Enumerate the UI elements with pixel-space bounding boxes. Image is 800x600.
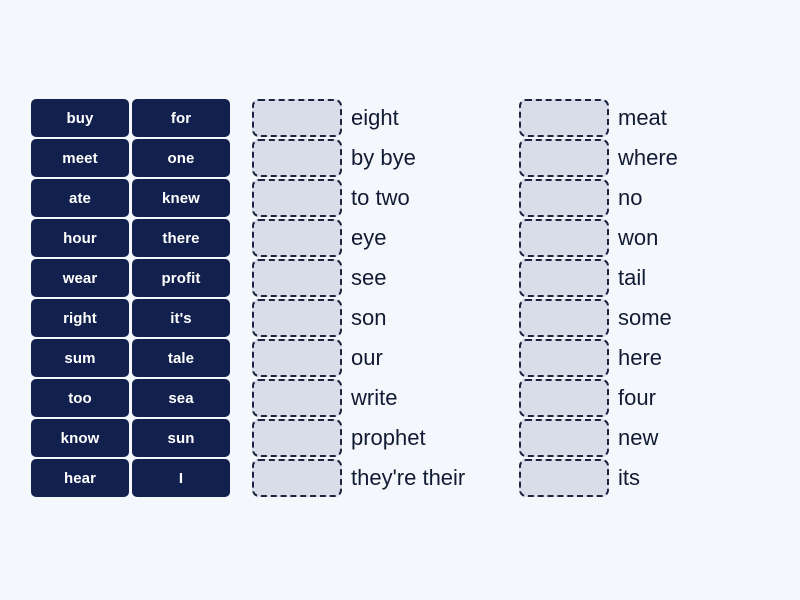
answer-row: here: [519, 339, 678, 377]
answer-row: its: [519, 459, 678, 497]
drop-zone[interactable]: [252, 419, 342, 457]
answer-row: some: [519, 299, 678, 337]
tile-row: too sea: [31, 379, 230, 417]
drop-zone[interactable]: [252, 459, 342, 497]
answer-row: new: [519, 419, 678, 457]
word-tile[interactable]: sum: [31, 339, 129, 377]
word-tile[interactable]: profit: [132, 259, 230, 297]
answer-label: write: [351, 386, 397, 410]
word-tile[interactable]: hour: [31, 219, 129, 257]
answer-row: four: [519, 379, 678, 417]
drop-zone[interactable]: [252, 339, 342, 377]
tile-row: wear profit: [31, 259, 230, 297]
drop-zone[interactable]: [252, 139, 342, 177]
word-tile[interactable]: knew: [132, 179, 230, 217]
word-tile[interactable]: sea: [132, 379, 230, 417]
word-tile[interactable]: one: [132, 139, 230, 177]
answer-label: to two: [351, 186, 410, 210]
answer-label: four: [618, 386, 656, 410]
drop-zone[interactable]: [252, 379, 342, 417]
answer-label: they're their: [351, 466, 465, 490]
answer-label: eye: [351, 226, 386, 250]
match-up-board: buy for meet one ate knew hour there wea…: [0, 0, 800, 600]
tile-row: meet one: [31, 139, 230, 177]
tile-row: ate knew: [31, 179, 230, 217]
word-tile[interactable]: wear: [31, 259, 129, 297]
drop-zone[interactable]: [519, 219, 609, 257]
word-tile[interactable]: know: [31, 419, 129, 457]
answer-row: tail: [519, 259, 678, 297]
drop-zone[interactable]: [252, 219, 342, 257]
word-tile[interactable]: right: [31, 299, 129, 337]
answer-row: write: [252, 379, 465, 417]
drop-zone[interactable]: [519, 99, 609, 137]
answer-label: our: [351, 346, 383, 370]
drop-zone[interactable]: [519, 139, 609, 177]
word-tile[interactable]: meet: [31, 139, 129, 177]
word-tile[interactable]: there: [132, 219, 230, 257]
drop-zone[interactable]: [519, 259, 609, 297]
drop-zone[interactable]: [519, 179, 609, 217]
drop-zone[interactable]: [252, 259, 342, 297]
answer-label: its: [618, 466, 640, 490]
answer-row: to two: [252, 179, 465, 217]
drop-zone[interactable]: [519, 339, 609, 377]
answer-row: our: [252, 339, 465, 377]
word-tile[interactable]: I: [132, 459, 230, 497]
draggable-tiles-group: buy for meet one ate knew hour there wea…: [31, 99, 230, 499]
answer-row: eight: [252, 99, 465, 137]
answer-row: meat: [519, 99, 678, 137]
tile-row: sum tale: [31, 339, 230, 377]
word-tile[interactable]: hear: [31, 459, 129, 497]
answer-row: where: [519, 139, 678, 177]
answer-row: won: [519, 219, 678, 257]
word-tile[interactable]: too: [31, 379, 129, 417]
tile-row: hear I: [31, 459, 230, 497]
drop-zone[interactable]: [519, 419, 609, 457]
answer-label: prophet: [351, 426, 426, 450]
answer-label: eight: [351, 106, 399, 130]
drop-zone[interactable]: [519, 459, 609, 497]
answer-row: eye: [252, 219, 465, 257]
word-tile[interactable]: tale: [132, 339, 230, 377]
word-tile[interactable]: sun: [132, 419, 230, 457]
drop-zone[interactable]: [252, 179, 342, 217]
answer-label: where: [618, 146, 678, 170]
answer-label: new: [618, 426, 658, 450]
answer-label: some: [618, 306, 672, 330]
tile-row: right it's: [31, 299, 230, 337]
word-tile[interactable]: buy: [31, 99, 129, 137]
drop-zone[interactable]: [252, 299, 342, 337]
answer-label: meat: [618, 106, 667, 130]
answers-column-middle: eight by bye to two eye see son our wri: [252, 99, 465, 499]
answer-row: they're their: [252, 459, 465, 497]
answer-label: son: [351, 306, 386, 330]
drop-zone[interactable]: [252, 99, 342, 137]
answer-label: tail: [618, 266, 646, 290]
drop-zone[interactable]: [519, 379, 609, 417]
answer-row: son: [252, 299, 465, 337]
drop-zone[interactable]: [519, 299, 609, 337]
word-tile[interactable]: ate: [31, 179, 129, 217]
answer-row: prophet: [252, 419, 465, 457]
tile-row: buy for: [31, 99, 230, 137]
answer-label: won: [618, 226, 658, 250]
answer-row: see: [252, 259, 465, 297]
answer-label: here: [618, 346, 662, 370]
word-tile[interactable]: it's: [132, 299, 230, 337]
answers-column-right: meat where no won tail some here four: [519, 99, 678, 499]
word-tile[interactable]: for: [132, 99, 230, 137]
answer-label: see: [351, 266, 386, 290]
answer-label: no: [618, 186, 642, 210]
tile-row: hour there: [31, 219, 230, 257]
tile-row: know sun: [31, 419, 230, 457]
answer-row: no: [519, 179, 678, 217]
answer-row: by bye: [252, 139, 465, 177]
answer-label: by bye: [351, 146, 416, 170]
